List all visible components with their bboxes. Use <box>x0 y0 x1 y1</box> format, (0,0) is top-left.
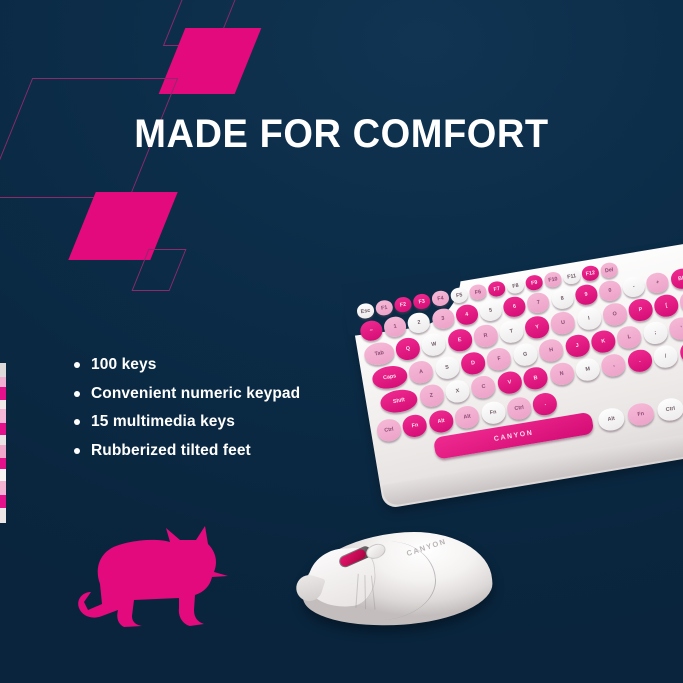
key-f3[interactable]: F3 <box>412 293 431 311</box>
key-shift[interactable]: Shift <box>379 387 419 415</box>
key-esc[interactable]: Esc <box>356 302 375 320</box>
key-f9[interactable]: F9 <box>525 274 544 292</box>
page-title: MADE FOR COMFORT <box>17 113 666 155</box>
key-h[interactable]: H <box>538 337 565 363</box>
key-f2[interactable]: F2 <box>393 296 412 314</box>
key-shf[interactable]: Shf <box>678 339 683 365</box>
key-8[interactable]: 8 <box>550 287 575 310</box>
key-[interactable]: . <box>532 391 559 417</box>
key-n[interactable]: N <box>548 361 575 387</box>
key-ctrl[interactable]: Ctrl <box>506 396 533 422</box>
key-a[interactable]: A <box>407 359 434 385</box>
key-k[interactable]: K <box>590 329 617 355</box>
feature-label: Convenient numeric keypad <box>91 385 300 403</box>
list-item: Rubberized tilted feet <box>74 437 300 466</box>
key-q[interactable]: Q <box>394 336 421 362</box>
bullet-dot-icon <box>74 391 80 397</box>
key-alt[interactable]: Alt <box>597 406 626 432</box>
feature-list: 100 keys Convenient numeric keypad 15 mu… <box>74 351 300 465</box>
key-[interactable]: , <box>600 352 627 378</box>
key-[interactable]: ] <box>679 289 683 315</box>
keyboard-product-image: EscF1F2F3F4F5F6F7F8F9F10F11F12Del~123456… <box>349 236 683 547</box>
key-u[interactable]: U <box>549 310 576 336</box>
key-fn[interactable]: Fn <box>401 413 428 439</box>
key-g[interactable]: G <box>512 342 539 368</box>
key-[interactable]: ' <box>668 316 683 342</box>
key-f10[interactable]: F10 <box>543 271 562 289</box>
keyboard-edge-sliver <box>0 363 6 523</box>
key-f7[interactable]: F7 <box>487 280 506 298</box>
key-d[interactable]: D <box>460 351 487 377</box>
key-s[interactable]: S <box>433 355 460 381</box>
key-p[interactable]: P <box>627 297 654 323</box>
key-2[interactable]: 2 <box>407 311 432 334</box>
key-f1[interactable]: F1 <box>375 299 394 317</box>
key-m[interactable]: M <box>574 357 601 383</box>
key-[interactable]: [ <box>653 293 680 319</box>
mouse-product-image: CANYON <box>292 518 499 644</box>
key-5[interactable]: 5 <box>478 299 503 322</box>
key-1[interactable]: 1 <box>383 315 408 338</box>
key-[interactable]: / <box>652 344 679 370</box>
key-w[interactable]: W <box>420 332 447 358</box>
feature-label: 15 multimedia keys <box>91 413 235 431</box>
key-e[interactable]: E <box>446 327 473 353</box>
key-[interactable]: ; <box>642 320 669 346</box>
key-ctrl[interactable]: Ctrl <box>656 396 683 422</box>
key-6[interactable]: 6 <box>502 295 527 318</box>
key-f12[interactable]: F12 <box>581 264 600 282</box>
key-tab[interactable]: Tab <box>363 340 396 367</box>
key-caps[interactable]: Caps <box>371 364 409 391</box>
key-f6[interactable]: F6 <box>468 283 487 301</box>
key-c[interactable]: C <box>470 374 497 400</box>
key-3[interactable]: 3 <box>430 307 455 330</box>
list-item: 15 multimedia keys <box>74 408 300 437</box>
key-f5[interactable]: F5 <box>450 286 469 304</box>
key-alt[interactable]: Alt <box>453 404 480 430</box>
feature-label: 100 keys <box>91 356 156 374</box>
key-x[interactable]: X <box>444 379 471 405</box>
key-y[interactable]: Y <box>524 314 551 340</box>
key-bk[interactable]: Bk <box>669 267 683 290</box>
key-i[interactable]: I <box>575 306 602 332</box>
bullet-dot-icon <box>74 419 80 425</box>
key-9[interactable]: 9 <box>574 283 599 306</box>
key-0[interactable]: 0 <box>598 279 623 302</box>
key-[interactable]: . <box>626 348 653 374</box>
key-fn[interactable]: Fn <box>626 401 655 427</box>
key-[interactable]: + <box>645 271 670 294</box>
key-fn[interactable]: Fn <box>480 400 507 426</box>
key-j[interactable]: J <box>564 333 591 359</box>
feature-label: Rubberized tilted feet <box>91 442 251 460</box>
key-v[interactable]: V <box>496 370 523 396</box>
key-f8[interactable]: F8 <box>506 277 525 295</box>
bullet-dot-icon <box>74 362 80 368</box>
key-z[interactable]: Z <box>418 383 445 409</box>
list-item: 100 keys <box>74 351 300 380</box>
key-del[interactable]: Del <box>600 261 619 279</box>
key-t[interactable]: T <box>498 319 525 345</box>
key-ctrl[interactable]: Ctrl <box>375 417 402 443</box>
key-b[interactable]: B <box>522 365 549 391</box>
cat-silhouette-icon <box>62 524 242 636</box>
key-[interactable]: ~ <box>359 319 384 342</box>
key-l[interactable]: L <box>616 324 643 350</box>
key-r[interactable]: R <box>472 323 499 349</box>
key-7[interactable]: 7 <box>526 291 551 314</box>
key-f4[interactable]: F4 <box>431 290 450 308</box>
key-alt[interactable]: Alt <box>427 409 454 435</box>
key-[interactable]: - <box>621 275 646 298</box>
key-o[interactable]: O <box>601 301 628 327</box>
key-f11[interactable]: F11 <box>562 268 581 286</box>
promo-slide: MADE FOR COMFORT 100 keys Convenient num… <box>0 0 683 683</box>
bullet-dot-icon <box>74 448 80 454</box>
list-item: Convenient numeric keypad <box>74 380 300 409</box>
key-f[interactable]: F <box>486 346 513 372</box>
key-4[interactable]: 4 <box>454 303 479 326</box>
